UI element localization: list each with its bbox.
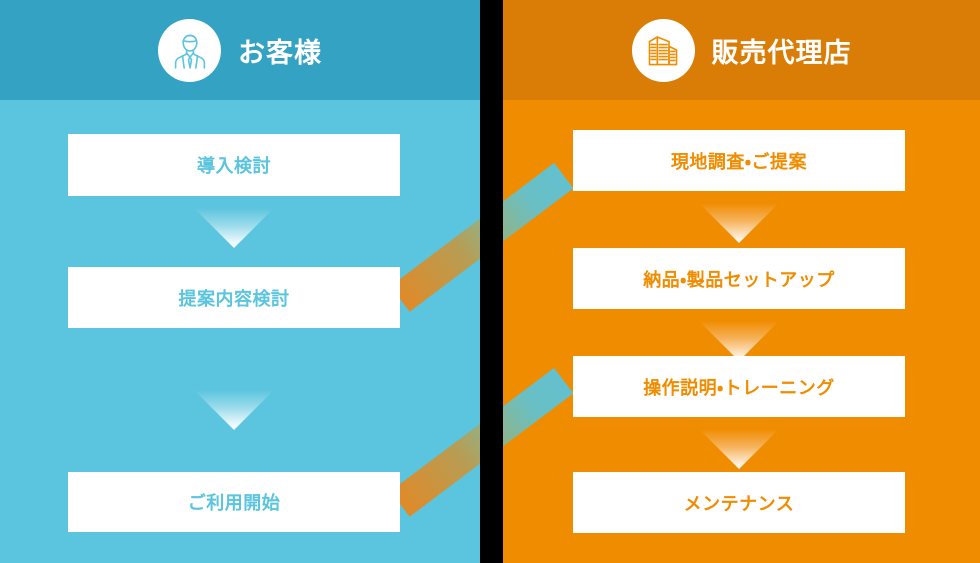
step-box-dealer-4[interactable]: メンテナンス (573, 472, 905, 533)
office-building-icon (632, 19, 695, 82)
column-dealer-title: 販売代理店 (712, 31, 852, 70)
step-box-customer-2[interactable]: 提案内容検討 (68, 267, 400, 328)
step-box-dealer-2[interactable]: 納品・製品セットアップ (573, 248, 905, 309)
column-dealer-header: 販売代理店 (503, 0, 980, 100)
column-customer-header: お客様 (0, 0, 480, 100)
step-box-customer-1[interactable]: 導入検討 (68, 134, 400, 196)
person-businessman-icon (158, 19, 221, 82)
flow-diagram: お客様 (0, 0, 980, 563)
step-box-dealer-1[interactable]: 現地調査・ご提案 (573, 130, 905, 191)
center-divider (480, 0, 503, 563)
step-box-dealer-3[interactable]: 操作説明・トレーニング (573, 356, 905, 417)
step-box-customer-3[interactable]: ご利用開始 (68, 472, 400, 532)
column-customer-title: お客様 (238, 31, 322, 70)
